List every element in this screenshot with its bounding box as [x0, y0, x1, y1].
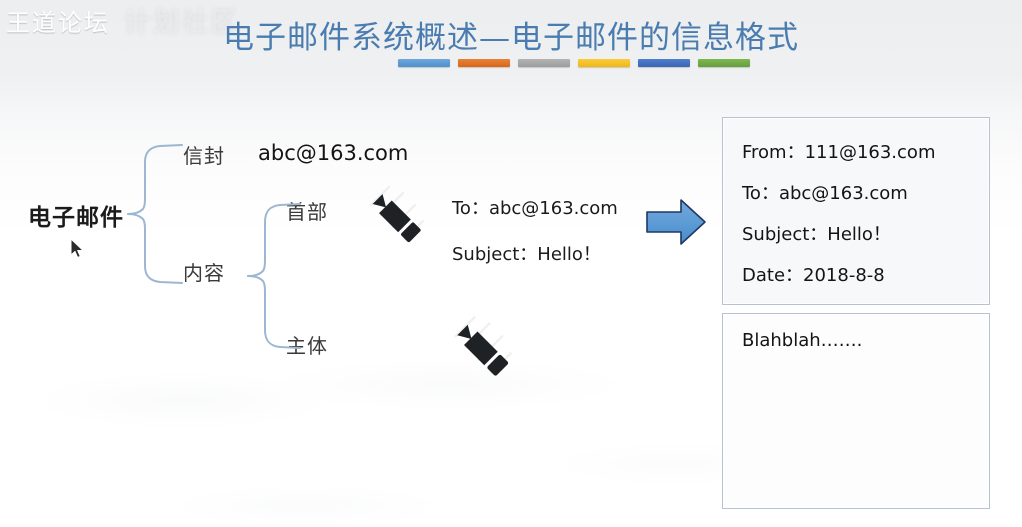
- title-bar-gray: [518, 59, 570, 67]
- right-arrow-icon: [645, 196, 707, 248]
- tree-brace-content: [246, 200, 304, 352]
- mail-header-line-to: To：abc@163.com: [742, 179, 908, 205]
- mail-body-box: Blahblah…….: [722, 313, 990, 509]
- compose-subject-line: Subject：Hello！: [452, 232, 618, 278]
- title-bar-darkblue: [638, 59, 690, 67]
- tree-node-content: 内容: [183, 257, 225, 286]
- page-title: 电子邮件系统概述—电子邮件的信息格式: [0, 12, 1022, 57]
- compose-header-text: To：abc@163.com Subject：Hello！: [452, 186, 618, 278]
- compose-to-line: To：abc@163.com: [452, 186, 618, 232]
- pencil-icon-header: [363, 183, 429, 249]
- title-underline-bars: [398, 59, 762, 68]
- mail-header-line-from: From：111@163.com: [742, 138, 935, 164]
- envelope-address-text: abc@163.com: [258, 141, 408, 165]
- mail-header-box: From：111@163.com To：abc@163.com Subject：…: [722, 117, 990, 305]
- tree-node-root: 电子邮件: [28, 198, 124, 232]
- slide-canvas: 王道论坛 计划社区 电子邮件系统概述—电子邮件的信息格式 电子邮件 信封 内容 …: [0, 0, 1022, 527]
- title-bar-blue: [398, 59, 450, 67]
- pencil-icon-body: [447, 313, 517, 383]
- title-bar-green: [698, 59, 750, 67]
- mail-header-line-date: Date：2018-8-8: [742, 261, 885, 287]
- mail-header-line-subject: Subject：Hello！: [742, 220, 891, 246]
- mail-body-text: Blahblah…….: [742, 330, 862, 351]
- title-bar-orange: [458, 59, 510, 67]
- title-bar-yellow: [578, 59, 630, 67]
- tree-node-envelope: 信封: [183, 140, 225, 169]
- tree-brace-root: [126, 142, 186, 287]
- mouse-pointer-icon: [70, 238, 86, 260]
